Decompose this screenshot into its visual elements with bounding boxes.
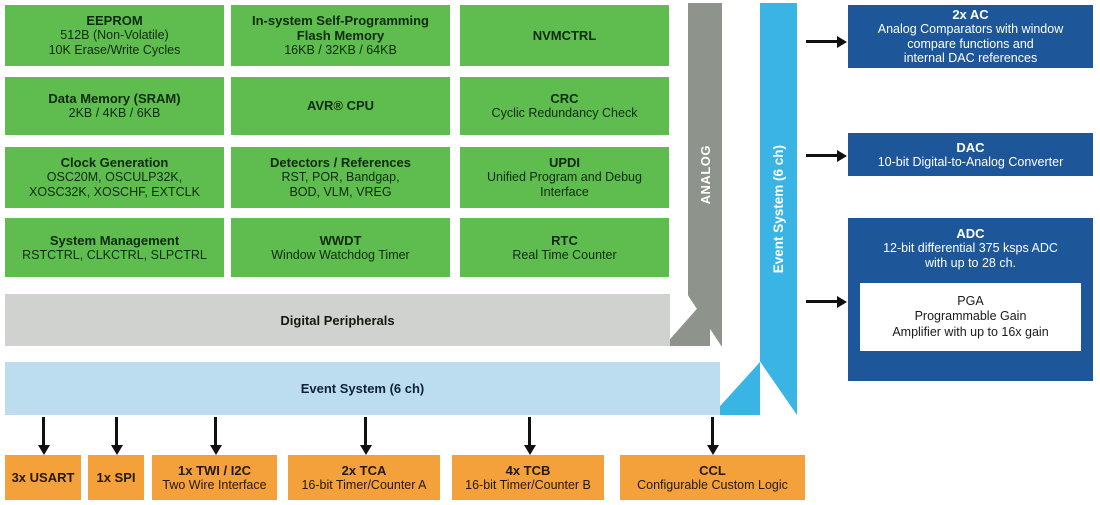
block-eeprom-title: EEPROM	[86, 13, 142, 28]
block-adc-line-2: with up to 28 ch.	[925, 256, 1016, 271]
block-twi: 1x TWI / I2C Two Wire Interface	[152, 455, 277, 500]
bus-digital-peripherals-label: Digital Peripherals	[280, 313, 394, 328]
block-rtc: RTC Real Time Counter	[460, 218, 669, 277]
block-twi-line-1: Two Wire Interface	[162, 478, 266, 493]
block-clock-generation-line-2: XOSC32K, XOSCHF, EXTCLK	[29, 185, 200, 200]
block-crc-title: CRC	[550, 91, 578, 106]
block-ac-title: 2x AC	[952, 7, 988, 22]
arrow-to-ccl	[711, 417, 714, 446]
block-sram: Data Memory (SRAM) 2KB / 4KB / 6KB	[5, 77, 224, 135]
block-avr-cpu: AVR® CPU	[231, 77, 450, 135]
block-wwdt-line-1: Window Watchdog Timer	[271, 248, 409, 263]
block-usart-title: 3x USART	[12, 470, 75, 485]
arrow-to-spi	[115, 417, 118, 446]
block-tca-title: 2x TCA	[342, 463, 387, 478]
arrow-to-tcb	[528, 417, 531, 446]
block-dac-line-1: 10-bit Digital-to-Analog Converter	[878, 155, 1064, 170]
block-avr-cpu-title: AVR® CPU	[307, 98, 374, 113]
block-eeprom: EEPROM 512B (Non-Volatile) 10K Erase/Wri…	[5, 5, 224, 66]
block-ac: 2x AC Analog Comparators with window com…	[848, 5, 1093, 68]
block-system-management: System Management RSTCTRL, CLKCTRL, SLPC…	[5, 218, 224, 277]
block-dac: DAC 10-bit Digital-to-Analog Converter	[848, 133, 1093, 176]
block-ac-line-3: internal DAC references	[904, 51, 1037, 66]
block-adc-line-1: 12-bit differential 375 ksps ADC	[883, 241, 1058, 256]
block-tcb-line-1: 16-bit Timer/Counter B	[465, 478, 591, 493]
block-nvmctrl: NVMCTRL	[460, 5, 669, 66]
block-detectors-references: Detectors / References RST, POR, Bandgap…	[231, 147, 450, 208]
block-wwdt-title: WWDT	[320, 233, 362, 248]
bus-event-system-horizontal: Event System (6 ch)	[5, 362, 720, 415]
block-sram-line-1: 2KB / 4KB / 6KB	[69, 106, 161, 121]
block-sram-title: Data Memory (SRAM)	[48, 91, 180, 106]
block-detectors-references-title: Detectors / References	[270, 155, 411, 170]
block-crc: CRC Cyclic Redundancy Check	[460, 77, 669, 135]
block-flash-memory-line-1: 16KB / 32KB / 64KB	[284, 43, 397, 58]
block-detectors-references-line-2: BOD, VLM, VREG	[289, 185, 391, 200]
block-flash-memory-title: In-system Self-Programming	[252, 13, 429, 28]
block-eeprom-line-1: 512B (Non-Volatile)	[60, 28, 168, 43]
block-ccl: CCL Configurable Custom Logic	[620, 455, 805, 500]
block-rtc-line-1: Real Time Counter	[512, 248, 616, 263]
block-updi-line-1: Unified Program and Debug	[487, 170, 642, 185]
block-tca: 2x TCA 16-bit Timer/Counter A	[288, 455, 440, 500]
block-adc: ADC 12-bit differential 375 ksps ADC wit…	[848, 218, 1093, 381]
block-ac-line-2: compare functions and	[907, 37, 1033, 52]
arrow-to-dac	[806, 154, 838, 157]
block-rtc-title: RTC	[551, 233, 578, 248]
block-pga: PGA Programmable Gain Amplifier with up …	[860, 283, 1081, 351]
bus-analog-vertical: ANALOG	[688, 3, 722, 347]
block-dac-title: DAC	[956, 140, 984, 155]
block-eeprom-line-2: 10K Erase/Write Cycles	[49, 43, 181, 58]
arrow-to-twi	[214, 417, 217, 446]
block-usart: 3x USART	[5, 455, 81, 500]
block-clock-generation-line-1: OSC20M, OSCULP32K,	[47, 170, 182, 185]
bus-digital-peripherals: Digital Peripherals	[5, 294, 670, 346]
block-flash-memory-title-2: Flash Memory	[297, 28, 384, 43]
block-spi: 1x SPI	[88, 455, 144, 500]
block-clock-generation: Clock Generation OSC20M, OSCULP32K, XOSC…	[5, 147, 224, 208]
bus-event-system-horizontal-label: Event System (6 ch)	[301, 381, 425, 396]
block-updi: UPDI Unified Program and Debug Interface	[460, 147, 669, 208]
arrow-to-usart	[42, 417, 45, 446]
bus-event-system-vertical-label: Event System (6 ch)	[771, 145, 786, 273]
block-detectors-references-line-1: RST, POR, Bandgap,	[281, 170, 399, 185]
block-tcb-title: 4x TCB	[506, 463, 551, 478]
block-pga-line-1: Programmable Gain	[915, 309, 1027, 325]
bus-analog-vertical-label: ANALOG	[698, 145, 713, 204]
bus-event-system-vertical: Event System (6 ch)	[760, 3, 797, 415]
block-updi-line-2: Interface	[540, 185, 589, 200]
block-nvmctrl-title: NVMCTRL	[533, 28, 597, 43]
arrow-to-adc	[806, 300, 838, 303]
block-flash-memory: In-system Self-Programming Flash Memory …	[231, 5, 450, 66]
block-pga-line-2: Amplifier with up to 16x gain	[892, 325, 1048, 341]
block-wwdt: WWDT Window Watchdog Timer	[231, 218, 450, 277]
block-ccl-line-1: Configurable Custom Logic	[637, 478, 788, 493]
block-twi-title: 1x TWI / I2C	[178, 463, 251, 478]
block-tca-line-1: 16-bit Timer/Counter A	[301, 478, 426, 493]
block-ccl-title: CCL	[699, 463, 726, 478]
block-adc-title: ADC	[956, 226, 984, 241]
block-tcb: 4x TCB 16-bit Timer/Counter B	[452, 455, 604, 500]
block-spi-title: 1x SPI	[96, 470, 135, 485]
block-pga-title: PGA	[957, 294, 983, 310]
block-ac-line-1: Analog Comparators with window	[878, 22, 1064, 37]
arrow-to-tca	[364, 417, 367, 446]
block-clock-generation-title: Clock Generation	[61, 155, 169, 170]
block-system-management-line-1: RSTCTRL, CLKCTRL, SLPCTRL	[22, 248, 207, 263]
block-crc-line-1: Cyclic Redundancy Check	[492, 106, 638, 121]
block-updi-title: UPDI	[549, 155, 580, 170]
arrow-to-ac	[806, 40, 838, 43]
block-diagram: EEPROM 512B (Non-Volatile) 10K Erase/Wri…	[0, 0, 1100, 505]
block-system-management-title: System Management	[50, 233, 179, 248]
